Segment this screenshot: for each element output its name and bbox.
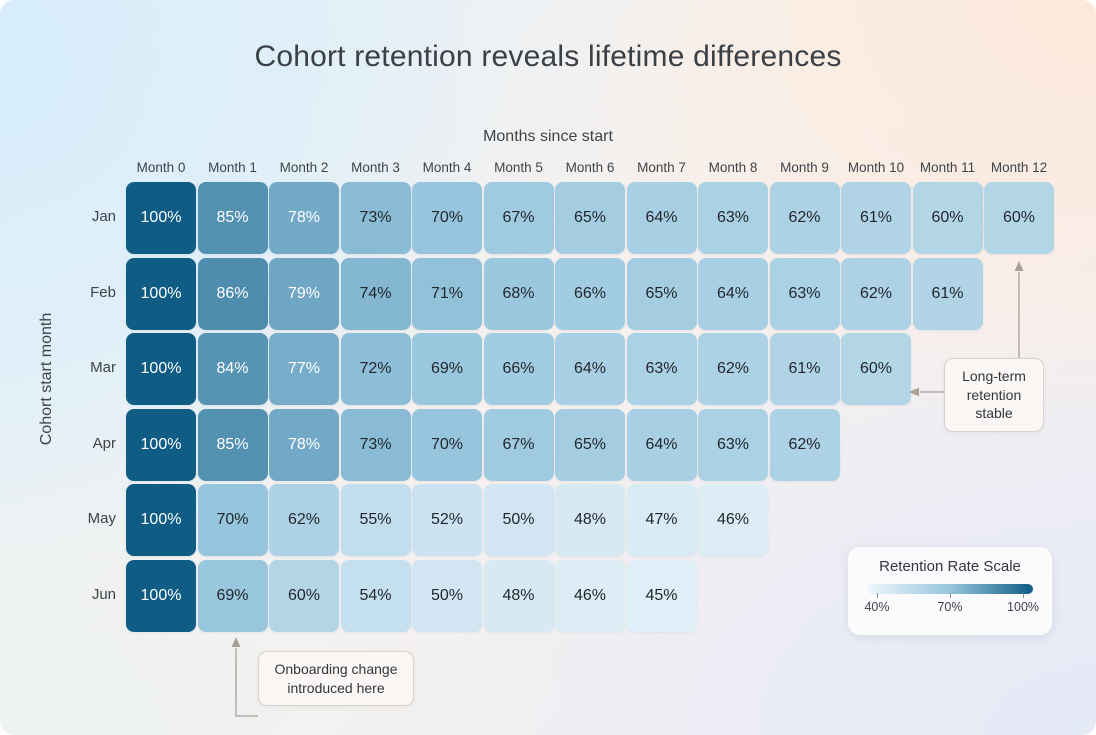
heatmap-cell[interactable]: 70% (412, 409, 482, 481)
heatmap-cell[interactable]: 62% (269, 484, 339, 556)
heatmap-cell[interactable]: 60% (984, 182, 1054, 254)
heatmap-cell[interactable]: 67% (484, 182, 554, 254)
column-header: Month 2 (269, 160, 339, 175)
legend-tick-mark (1023, 593, 1024, 598)
row-label: Feb (60, 284, 116, 301)
heatmap-cell[interactable]: 62% (770, 409, 840, 481)
heatmap-cell[interactable]: 69% (412, 333, 482, 405)
x-axis-title: Months since start (0, 128, 1096, 146)
heatmap-cell[interactable]: 71% (412, 258, 482, 330)
page-title: Cohort retention reveals lifetime differ… (0, 40, 1096, 74)
legend-tick-label: 40% (864, 600, 889, 614)
heatmap-cell[interactable]: 100% (126, 409, 196, 481)
heatmap-cell[interactable]: 47% (627, 484, 697, 556)
heatmap-cell[interactable]: 86% (198, 258, 268, 330)
column-header: Month 0 (126, 160, 196, 175)
heatmap-cell[interactable]: 65% (627, 258, 697, 330)
column-header: Month 9 (770, 160, 840, 175)
heatmap-cell[interactable]: 64% (555, 333, 625, 405)
heatmap-cell[interactable]: 66% (555, 258, 625, 330)
heatmap-cell[interactable]: 63% (627, 333, 697, 405)
heatmap-cell[interactable]: 73% (341, 409, 411, 481)
heatmap-cell[interactable]: 60% (913, 182, 983, 254)
heatmap-cell[interactable]: 48% (555, 484, 625, 556)
row-label: Jan (60, 208, 116, 225)
column-header: Month 4 (412, 160, 482, 175)
heatmap-cell[interactable]: 78% (269, 182, 339, 254)
column-header: Month 6 (555, 160, 625, 175)
heatmap-cell[interactable]: 46% (555, 560, 625, 632)
heatmap-cell[interactable]: 100% (126, 182, 196, 254)
heatmap-cell[interactable]: 73% (341, 182, 411, 254)
heatmap-cell[interactable]: 60% (841, 333, 911, 405)
heatmap-cell[interactable]: 63% (698, 409, 768, 481)
heatmap-cell[interactable]: 50% (484, 484, 554, 556)
heatmap-cell[interactable]: 64% (627, 409, 697, 481)
legend-tick-label: 100% (1007, 600, 1039, 614)
heatmap-cell[interactable]: 85% (198, 409, 268, 481)
column-header: Month 7 (627, 160, 697, 175)
annotation-onboarding: Onboarding change introduced here (258, 651, 414, 706)
chart-canvas: Cohort retention reveals lifetime differ… (0, 0, 1096, 735)
heatmap-cell[interactable]: 69% (198, 560, 268, 632)
heatmap-cell[interactable]: 66% (484, 333, 554, 405)
y-axis-title: Cohort start month (38, 299, 56, 459)
column-header: Month 12 (984, 160, 1054, 175)
heatmap-cell[interactable]: 61% (770, 333, 840, 405)
legend-tick-mark (950, 593, 951, 598)
heatmap-cell[interactable]: 61% (841, 182, 911, 254)
heatmap-cell[interactable]: 64% (698, 258, 768, 330)
heatmap-cell[interactable]: 100% (126, 484, 196, 556)
column-header: Month 5 (484, 160, 554, 175)
heatmap-cell[interactable]: 67% (484, 409, 554, 481)
heatmap-cell[interactable]: 78% (269, 409, 339, 481)
row-label: Jun (60, 586, 116, 603)
heatmap-cell[interactable]: 84% (198, 333, 268, 405)
heatmap-cell[interactable]: 45% (627, 560, 697, 632)
heatmap-cell[interactable]: 65% (555, 409, 625, 481)
heatmap-cell[interactable]: 72% (341, 333, 411, 405)
heatmap-cell[interactable]: 77% (269, 333, 339, 405)
legend-tick-label: 70% (937, 600, 962, 614)
heatmap-cell[interactable]: 64% (627, 182, 697, 254)
heatmap-cell[interactable]: 50% (412, 560, 482, 632)
heatmap-cell[interactable]: 54% (341, 560, 411, 632)
heatmap-cell[interactable]: 68% (484, 258, 554, 330)
row-label: Mar (60, 359, 116, 376)
longterm-up-leader-line (1004, 258, 1034, 373)
row-label: Apr (60, 435, 116, 452)
legend-title: Retention Rate Scale (879, 558, 1021, 575)
heatmap-cell[interactable]: 74% (341, 258, 411, 330)
heatmap-cell[interactable]: 46% (698, 484, 768, 556)
heatmap-cell[interactable]: 55% (341, 484, 411, 556)
legend-tick-mark (877, 593, 878, 598)
heatmap-cell[interactable]: 79% (269, 258, 339, 330)
heatmap-cell[interactable]: 63% (698, 182, 768, 254)
row-label: May (60, 510, 116, 527)
column-header: Month 11 (913, 160, 983, 175)
annotation-longterm: Long-term retention stable (944, 358, 1044, 432)
heatmap-cell[interactable]: 52% (412, 484, 482, 556)
heatmap-cell[interactable]: 85% (198, 182, 268, 254)
heatmap-cell[interactable]: 70% (412, 182, 482, 254)
heatmap-cell[interactable]: 60% (269, 560, 339, 632)
column-header: Month 1 (198, 160, 268, 175)
column-header: Month 8 (698, 160, 768, 175)
heatmap-cell[interactable]: 100% (126, 333, 196, 405)
heatmap-cell[interactable]: 62% (698, 333, 768, 405)
column-header: Month 10 (841, 160, 911, 175)
heatmap-cell[interactable]: 100% (126, 560, 196, 632)
heatmap-cell[interactable]: 62% (841, 258, 911, 330)
heatmap-cell[interactable]: 48% (484, 560, 554, 632)
heatmap-cell[interactable]: 63% (770, 258, 840, 330)
legend-tick-labels: 40%70%100% (867, 598, 1033, 616)
heatmap-cell[interactable]: 62% (770, 182, 840, 254)
heatmap-cell[interactable]: 70% (198, 484, 268, 556)
column-header: Month 3 (341, 160, 411, 175)
heatmap-cell[interactable]: 65% (555, 182, 625, 254)
heatmap-cell[interactable]: 100% (126, 258, 196, 330)
legend: Retention Rate Scale 40%70%100% (848, 547, 1052, 635)
heatmap-cell[interactable]: 61% (913, 258, 983, 330)
